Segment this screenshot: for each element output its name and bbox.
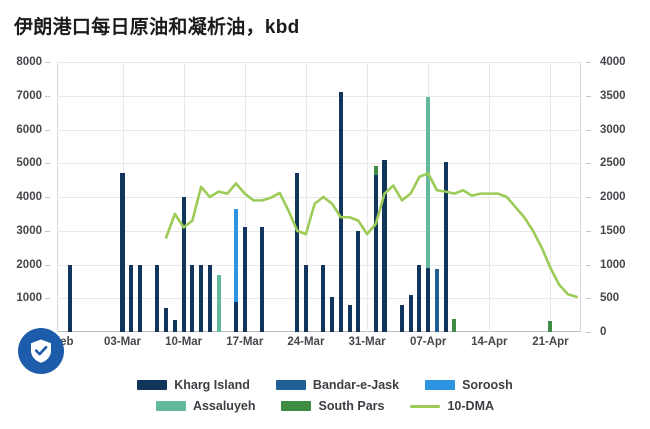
chart-legend: Kharg IslandBandar-e-JaskSoroosh Assaluy… [0, 378, 650, 413]
y-axis-right-tick-mark [586, 332, 591, 333]
dma-line-path [166, 173, 576, 297]
y-axis-left: 10002000300040005000600070008000 [0, 62, 50, 332]
y-axis-right-tick-label: 1000 [600, 259, 626, 271]
y-axis-left-tick-label: 3000 [16, 225, 42, 237]
x-axis-tick-label: 24-Mar [287, 336, 324, 348]
x-axis-tick-label: 14-Apr [471, 336, 507, 348]
legend-swatch-icon [156, 401, 186, 411]
y-axis-right-tick-mark [586, 96, 591, 97]
chart-card: 伊朗港口每日原油和凝析油，kbd 10002000300040005000600… [0, 0, 650, 429]
y-axis-right-tick-mark [586, 265, 591, 266]
legend-swatch-icon [137, 380, 167, 390]
legend-row-2: AssaluyehSouth Pars10-DMA [156, 399, 494, 413]
legend-item[interactable]: 10-DMA [410, 399, 494, 413]
verified-shield-badge[interactable] [18, 328, 64, 374]
legend-label: Soroosh [462, 378, 513, 392]
legend-label: Assaluyeh [193, 399, 256, 413]
y-axis-right-tick-label: 500 [600, 292, 619, 304]
legend-swatch-icon [410, 405, 440, 408]
x-axis: -Feb03-Mar10-Mar17-Mar24-Mar31-Mar07-Apr… [57, 334, 581, 354]
y-axis-right-tick-mark [586, 163, 591, 164]
y-axis-right-tick-mark [586, 298, 591, 299]
y-axis-right-tick-label: 2000 [600, 191, 626, 203]
y-axis-right-tick-label: 3000 [600, 124, 626, 136]
y-axis-right-tick-label: 0 [600, 326, 606, 338]
y-axis-right-tick-label: 1500 [600, 225, 626, 237]
y-axis-left-tick-mark [45, 130, 50, 131]
y-axis-left-tick-label: 4000 [16, 191, 42, 203]
y-axis-left-tick-label: 2000 [16, 259, 42, 271]
x-axis-tick-label: 03-Mar [104, 336, 141, 348]
y-axis-right-tick-mark [586, 231, 591, 232]
y-axis-left-tick-label: 5000 [16, 157, 42, 169]
x-axis-tick-label: 31-Mar [348, 336, 385, 348]
legend-label: Kharg Island [174, 378, 250, 392]
legend-item[interactable]: South Pars [281, 399, 384, 413]
y-axis-left-tick-label: 1000 [16, 292, 42, 304]
y-axis-right-tick-mark [586, 197, 591, 198]
legend-label: Bandar-e-Jask [313, 378, 399, 392]
x-axis-tick-label: 21-Apr [532, 336, 568, 348]
shield-check-icon [29, 338, 53, 364]
legend-swatch-icon [281, 401, 311, 411]
y-axis-right-tick-label: 4000 [600, 56, 626, 68]
legend-label: 10-DMA [447, 399, 494, 413]
legend-item[interactable]: Assaluyeh [156, 399, 256, 413]
y-axis-left-tick-mark [45, 62, 50, 63]
y-axis-left-tick-mark [45, 231, 50, 232]
legend-item[interactable]: Kharg Island [137, 378, 250, 392]
legend-swatch-icon [425, 380, 455, 390]
y-axis-left-tick-label: 6000 [16, 124, 42, 136]
y-axis-left-tick-mark [45, 96, 50, 97]
y-axis-right: 05001000150020002500300035004000 [586, 62, 646, 332]
y-axis-right-tick-mark [586, 62, 591, 63]
legend-item[interactable]: Bandar-e-Jask [276, 378, 399, 392]
dma-line-series [57, 62, 581, 332]
y-axis-left-tick-mark [45, 298, 50, 299]
y-axis-left-tick-label: 8000 [16, 56, 42, 68]
y-axis-left-tick-mark [45, 163, 50, 164]
legend-label: South Pars [318, 399, 384, 413]
y-axis-right-tick-mark [586, 130, 591, 131]
x-axis-tick-label: 07-Apr [410, 336, 446, 348]
legend-swatch-icon [276, 380, 306, 390]
y-axis-left-tick-label: 7000 [16, 90, 42, 102]
x-axis-tick-label: 10-Mar [165, 336, 202, 348]
y-axis-right-tick-label: 2500 [600, 157, 626, 169]
x-axis-tick-label: 17-Mar [226, 336, 263, 348]
page-title: 伊朗港口每日原油和凝析油，kbd [14, 12, 300, 39]
y-axis-right-tick-label: 3500 [600, 90, 626, 102]
legend-item[interactable]: Soroosh [425, 378, 513, 392]
legend-row-1: Kharg IslandBandar-e-JaskSoroosh [137, 378, 513, 392]
y-axis-left-tick-mark [45, 265, 50, 266]
plot-area [57, 62, 581, 332]
y-axis-left-tick-mark [45, 197, 50, 198]
